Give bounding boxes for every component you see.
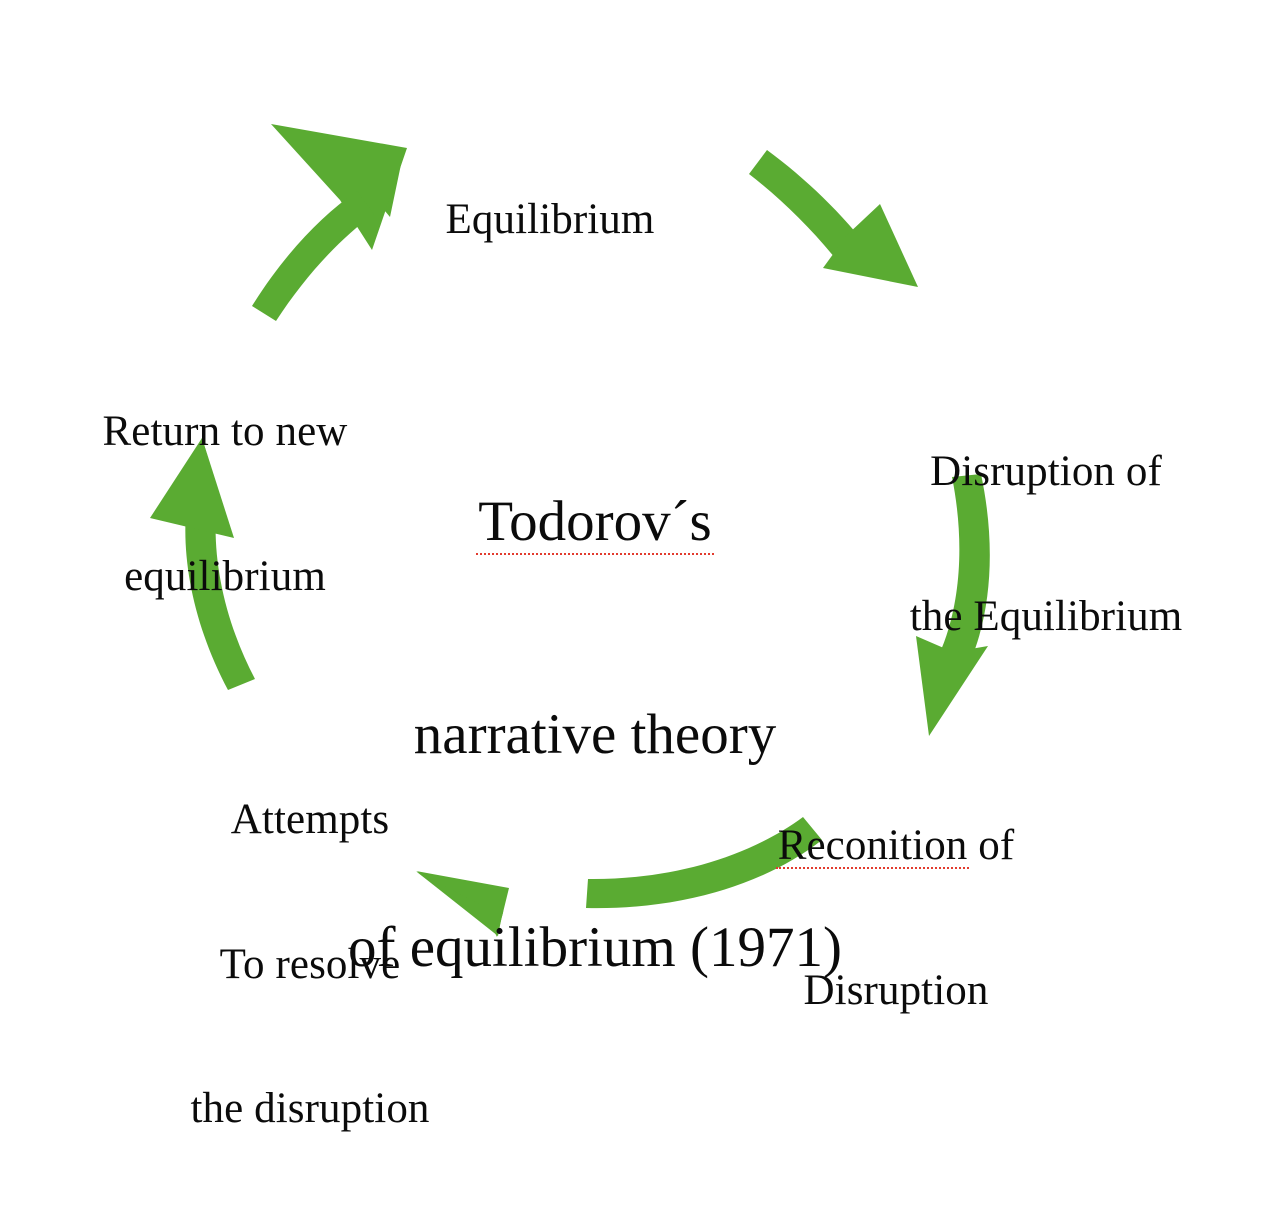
title-line-3: of equilibrium (1971) bbox=[270, 912, 920, 984]
title-line-1: Todorov´s bbox=[270, 486, 920, 558]
diagram-title: Todorov´s narrative theory of equilibriu… bbox=[270, 345, 920, 1125]
misspelled-word: Todorov´s bbox=[478, 486, 711, 558]
cycle-diagram: Equilibrium Disruption of the Equilibriu… bbox=[0, 0, 1283, 1044]
stage-line: Disruption of bbox=[866, 448, 1226, 496]
stage-line: Equilibrium bbox=[340, 196, 760, 244]
arrow-equilibrium-to-disruption-icon bbox=[749, 150, 918, 287]
stage-label-disruption-of-the-equilibrium: Disruption of the Equilibrium bbox=[866, 352, 1226, 737]
stage-line: the Equilibrium bbox=[866, 593, 1226, 641]
stage-label-equilibrium: Equilibrium bbox=[340, 100, 760, 341]
title-line-2: narrative theory bbox=[270, 699, 920, 771]
stage-line-rest: of bbox=[967, 822, 1014, 869]
